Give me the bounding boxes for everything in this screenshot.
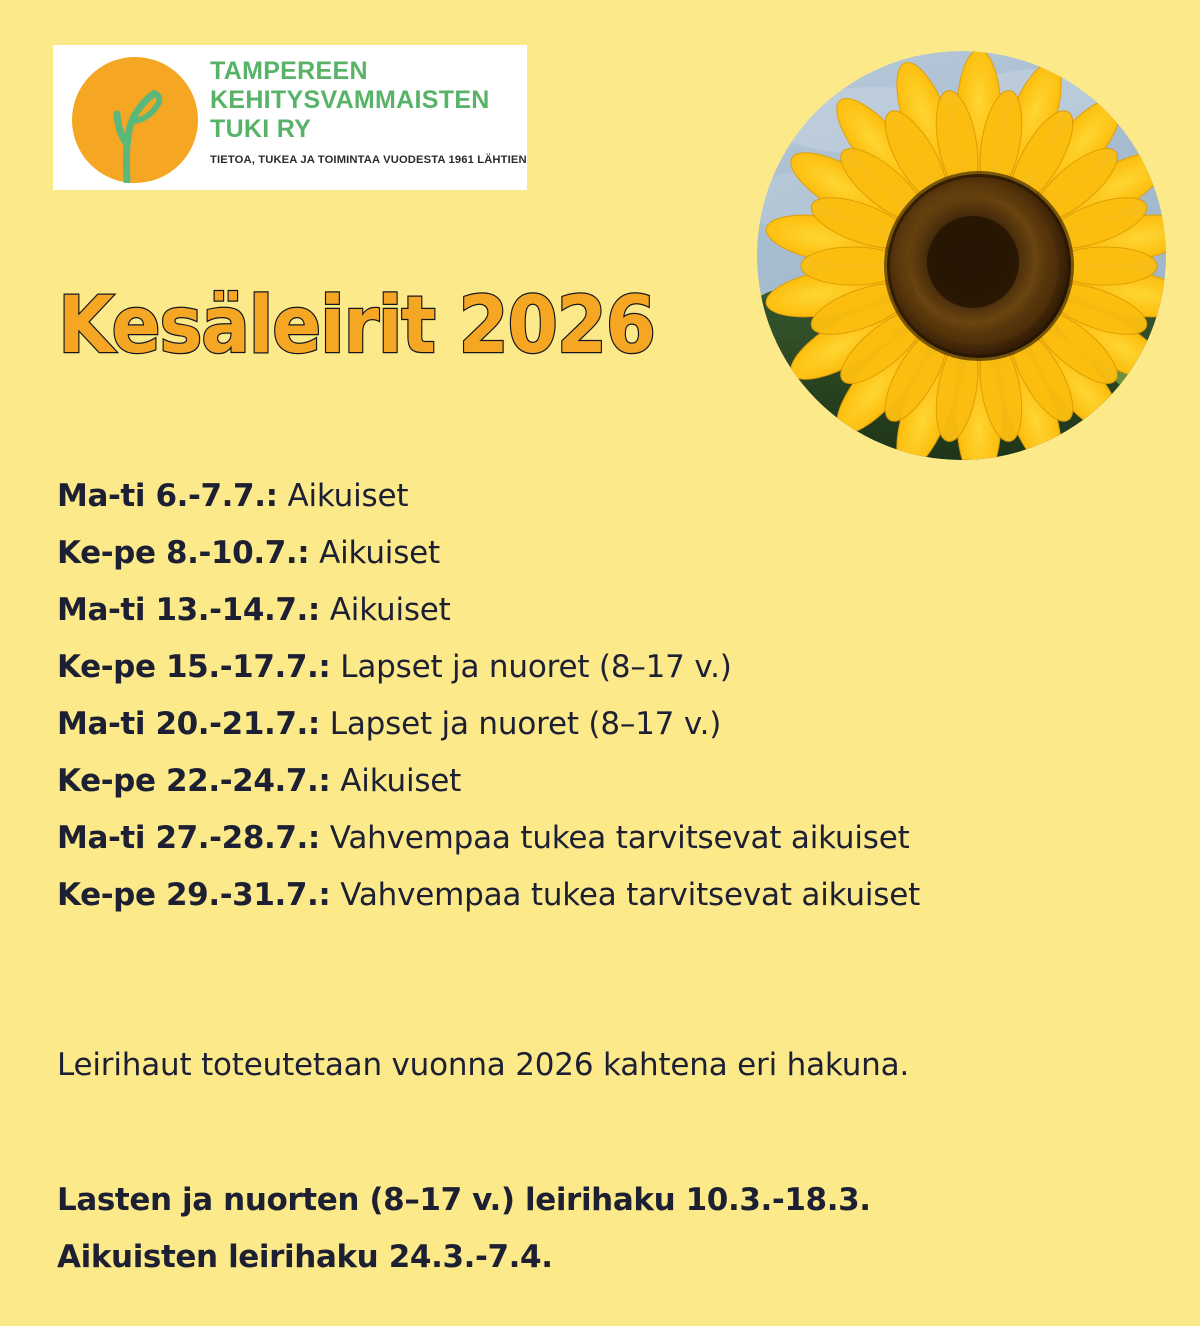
camp-date: Ke-pe 22.-24.7.: [57, 763, 330, 799]
camp-schedule-list: Ma-ti 6.-7.7.: Aikuiset Ke-pe 8.-10.7.: … [57, 468, 1157, 924]
list-item: Ke-pe 8.-10.7.: Aikuiset [57, 525, 1157, 582]
camp-date: Ke-pe 15.-17.7.: [57, 649, 330, 685]
list-item: Ma-ti 27.-28.7.: Vahvempaa tukea tarvits… [57, 810, 1157, 867]
camp-date: Ma-ti 6.-7.7.: [57, 478, 278, 514]
camp-audience: Aikuiset [319, 535, 440, 571]
sprout-icon [65, 50, 205, 190]
camp-audience: Lapset ja nuoret (8–17 v.) [340, 649, 731, 685]
organization-name: TAMPEREEN KEHITYSVAMMAISTEN TUKI RY [210, 57, 520, 144]
list-item: Ma-ti 20.-21.7.: Lapset ja nuoret (8–17 … [57, 696, 1157, 753]
camp-date: Ma-ti 13.-14.7.: [57, 592, 320, 628]
camp-audience: Vahvempaa tukea tarvitsevat aikuiset [330, 820, 910, 856]
sunflower-photo [757, 51, 1166, 460]
application-period-children: Lasten ja nuorten (8–17 v.) leirihaku 10… [57, 1172, 871, 1229]
camp-date: Ke-pe 29.-31.7.: [57, 877, 330, 913]
application-periods: Lasten ja nuorten (8–17 v.) leirihaku 10… [57, 1172, 871, 1286]
list-item: Ke-pe 15.-17.7.: Lapset ja nuoret (8–17 … [57, 639, 1157, 696]
camp-audience: Aikuiset [287, 478, 408, 514]
camp-date: Ma-ti 20.-21.7.: [57, 706, 320, 742]
organization-logo: TAMPEREEN KEHITYSVAMMAISTEN TUKI RY TIET… [53, 45, 527, 190]
list-item: Ma-ti 13.-14.7.: Aikuiset [57, 582, 1157, 639]
list-item: Ma-ti 6.-7.7.: Aikuiset [57, 468, 1157, 525]
organization-tagline: TIETOA, TUKEA JA TOIMINTAA VUODESTA 1961… [210, 154, 520, 166]
application-note: Leirihaut toteutetaan vuonna 2026 kahten… [57, 1047, 909, 1083]
list-item: Ke-pe 22.-24.7.: Aikuiset [57, 753, 1157, 810]
page-title: Kesäleirit 2026 [58, 283, 655, 369]
logo-text-block: TAMPEREEN KEHITYSVAMMAISTEN TUKI RY TIET… [210, 57, 520, 166]
camp-date: Ke-pe 8.-10.7.: [57, 535, 309, 571]
camp-date: Ma-ti 27.-28.7.: [57, 820, 320, 856]
application-period-adults: Aikuisten leirihaku 24.3.-7.4. [57, 1229, 871, 1286]
poster-canvas: TAMPEREEN KEHITYSVAMMAISTEN TUKI RY TIET… [0, 0, 1200, 1326]
list-item: Ke-pe 29.-31.7.: Vahvempaa tukea tarvits… [57, 867, 1157, 924]
camp-audience: Aikuiset [330, 592, 451, 628]
camp-audience: Lapset ja nuoret (8–17 v.) [330, 706, 721, 742]
camp-audience: Vahvempaa tukea tarvitsevat aikuiset [340, 877, 920, 913]
camp-audience: Aikuiset [340, 763, 461, 799]
